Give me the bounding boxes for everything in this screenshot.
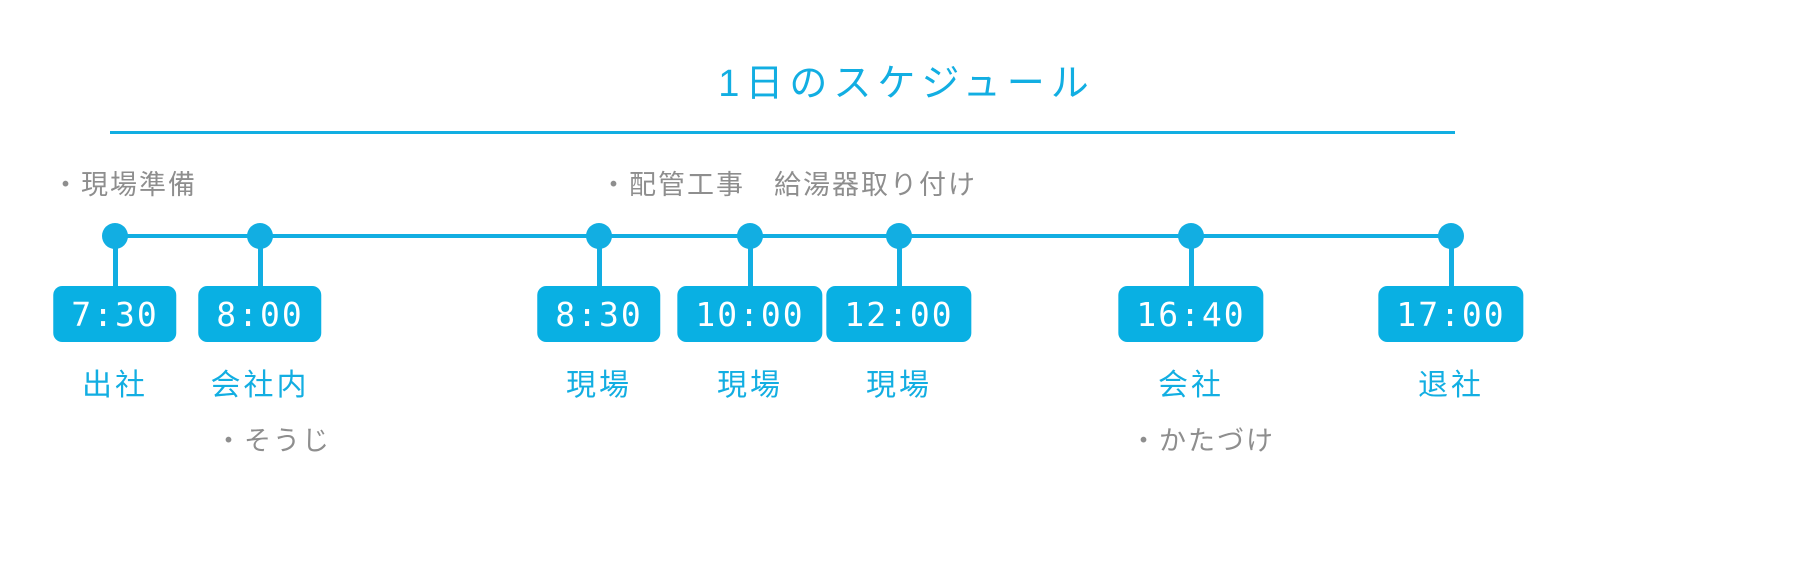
time-badge[interactable]: 8:30: [537, 286, 660, 342]
time-badge[interactable]: 16:40: [1118, 286, 1263, 342]
timeline-axis: [113, 234, 1453, 238]
location-label: 退社: [1418, 360, 1484, 404]
timeline-stem: [1189, 236, 1194, 288]
page-title: 1日のスケジュール: [0, 52, 1813, 107]
location-label: 会社: [1158, 360, 1224, 404]
schedule-infographic: 1日のスケジュール ・現場準備 ・配管工事 給湯器取り付け 7:30出社8:00…: [0, 0, 1813, 569]
timeline-stem: [258, 236, 263, 288]
time-badge[interactable]: 17:00: [1378, 286, 1523, 342]
timeline-stem: [897, 236, 902, 288]
time-badge[interactable]: 7:30: [53, 286, 176, 342]
note-plumbing-work: ・配管工事 給湯器取り付け: [600, 163, 977, 202]
note-site-preparation: ・現場準備: [52, 163, 197, 202]
time-badge[interactable]: 10:00: [677, 286, 822, 342]
location-label: 出社: [82, 360, 148, 404]
time-badge[interactable]: 12:00: [826, 286, 971, 342]
location-label: 現場: [566, 360, 632, 404]
location-label: 現場: [717, 360, 783, 404]
timeline-stem: [597, 236, 602, 288]
timeline-stem: [748, 236, 753, 288]
location-label: 現場: [866, 360, 932, 404]
timeline-stem: [1449, 236, 1454, 288]
note-tidy-up: ・かたづけ: [1130, 419, 1275, 458]
title-underline-divider: [110, 131, 1455, 134]
note-cleaning: ・そうじ: [215, 419, 331, 458]
time-badge[interactable]: 8:00: [198, 286, 321, 342]
timeline-stem: [113, 236, 118, 288]
location-label: 会社内: [211, 360, 310, 404]
